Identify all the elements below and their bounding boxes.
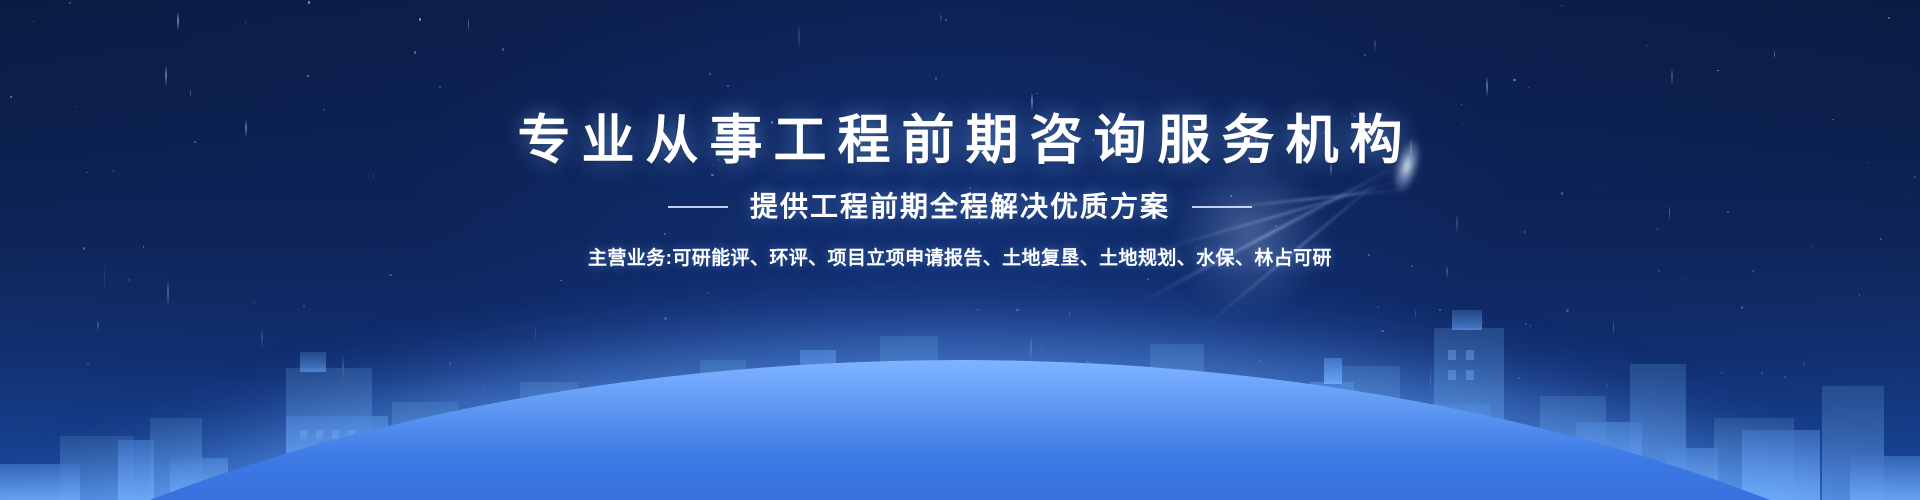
banner-subtitle: 提供工程前期全程解决优质方案 [750,190,1170,224]
banner-business-line: 主营业务:可研能评、环评、项目立项申请报告、土地复垦、土地规划、水保、林占可研 [0,246,1920,272]
dash-divider-right-icon [1192,206,1252,208]
hero-banner: 专业从事工程前期咨询服务机构 提供工程前期全程解决优质方案 主营业务:可研能评、… [0,0,1920,500]
banner-headline: 专业从事工程前期咨询服务机构 [0,0,1920,170]
banner-subtitle-row: 提供工程前期全程解决优质方案 [0,190,1920,224]
banner-content: 专业从事工程前期咨询服务机构 提供工程前期全程解决优质方案 主营业务:可研能评、… [0,0,1920,272]
dash-divider-left-icon [668,206,728,208]
